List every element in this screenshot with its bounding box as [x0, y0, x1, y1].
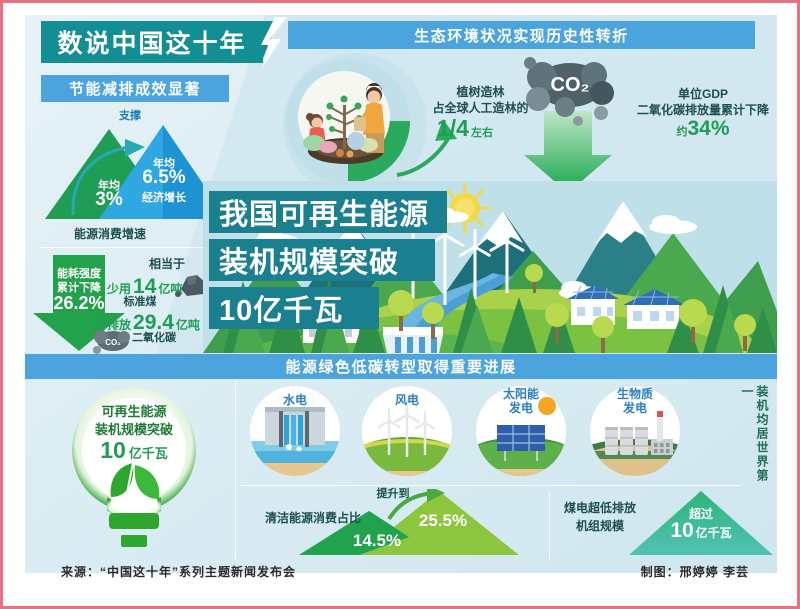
coal-ultra-unit: 亿千瓦	[696, 526, 732, 540]
forest-value-row: 1/4左右	[437, 115, 493, 142]
page-title: 数说中国这十年	[41, 21, 263, 63]
card-hydro[interactable]: 水电	[249, 385, 341, 477]
bulb-line1: 可再生能源	[71, 401, 197, 420]
bulb-line2: 装机规模突破	[65, 419, 203, 438]
section-header-transition: 能源绿色低碳转型取得重要进展	[25, 354, 777, 379]
card-biomass[interactable]: 生物质 发电	[589, 385, 681, 477]
growth-caption: 能源消费增速	[35, 225, 185, 242]
growth-arrow-label: 支撑	[80, 107, 180, 123]
co2gdp-line2: 二氧化碳排放量累计下降	[625, 101, 781, 118]
bulb-block: 可再生能源 装机规模突破 10亿千瓦	[49, 385, 219, 560]
card-biomass-label2: 发电	[589, 401, 681, 415]
co2gdp-value: 34%	[687, 117, 729, 140]
coal-ultra-line2: 机组规模	[559, 517, 641, 534]
co2-big-text: CO₂	[551, 74, 590, 96]
headline-line1: 我国可再生能源	[209, 191, 447, 233]
infographic-poster: 数说中国这十年 生态环境状况实现历史性转折 节能减排成效显著 能源绿色低碳转型取…	[0, 0, 800, 609]
left-divider	[41, 247, 221, 248]
rank-note: 装机均居世界第一	[739, 385, 769, 487]
card-biomass-label1: 生物质	[589, 387, 681, 401]
headline-line3: 10亿千瓦	[209, 287, 379, 329]
economy-suffix: 经济增长	[127, 189, 201, 205]
bottom-vertical-divider	[235, 381, 236, 559]
coal-ultra-value: 10	[670, 519, 693, 542]
title-flash-icon	[261, 17, 287, 67]
economy-value: 6.5%	[131, 167, 197, 189]
coal-ultra-line1: 煤电超低排放	[559, 499, 641, 516]
card-wind-label: 风电	[361, 393, 453, 407]
card-hydro-label: 水电	[249, 393, 341, 407]
co2gdp-line1: 单位GDP	[633, 85, 773, 102]
co2-small-text: CO₂	[105, 338, 121, 347]
bulb-unit: 亿千瓦	[129, 446, 168, 461]
section-header-ecology: 生态环境状况实现历史性转折	[288, 21, 755, 49]
co2gdp-prefix: 约	[676, 126, 687, 138]
chart-annotation: 提升到	[361, 485, 425, 501]
co2-cloud-small-icon: CO₂	[91, 323, 135, 355]
co2-cloud-big-icon: CO₂	[508, 51, 628, 191]
clean-energy-chart: 清洁能源消费占比 提升到 14.5% 25.5%	[241, 489, 541, 559]
card-biomass-labels: 生物质 发电	[589, 387, 681, 415]
coal-ultra-value-row: 10亿千瓦	[661, 519, 741, 543]
headline-line2: 装机规模突破	[209, 239, 435, 281]
chart-title: 清洁能源消费占比	[241, 509, 361, 526]
card-solar-label1: 太阳能	[475, 387, 567, 401]
card-solar[interactable]: 太阳能 发电	[475, 385, 567, 477]
coal-suffix: 标准煤	[103, 293, 177, 309]
card-solar-labels: 太阳能 发电	[475, 387, 567, 415]
equivalent-label: 相当于	[119, 255, 215, 272]
forest-value: 1/4	[437, 115, 469, 141]
bulb-value: 10	[100, 437, 126, 463]
forest-suffix: 左右	[471, 127, 493, 139]
section-header-energy-saving: 节能减排成效显著	[41, 75, 229, 102]
source-note: 来源：“中国这十年”系列主题新闻发布会	[61, 563, 296, 580]
card-solar-label2: 发电	[475, 401, 567, 415]
energy-value: 3%	[81, 189, 137, 211]
coal-ultra-block: 煤电超低排放 机组规模 超过 10亿千瓦	[559, 489, 781, 559]
chart-value-0: 14.5%	[337, 531, 417, 551]
coal-vertical-divider	[549, 493, 550, 559]
chart-value-1: 25.5%	[403, 511, 483, 531]
co2gdp-value-row: 约34%	[633, 117, 773, 141]
card-wind[interactable]: 风电	[361, 385, 453, 477]
credit-note: 制图：邢婷婷 李芸	[641, 563, 749, 580]
bulb-value-row: 10亿千瓦	[71, 437, 197, 464]
cards-divider	[241, 485, 741, 486]
